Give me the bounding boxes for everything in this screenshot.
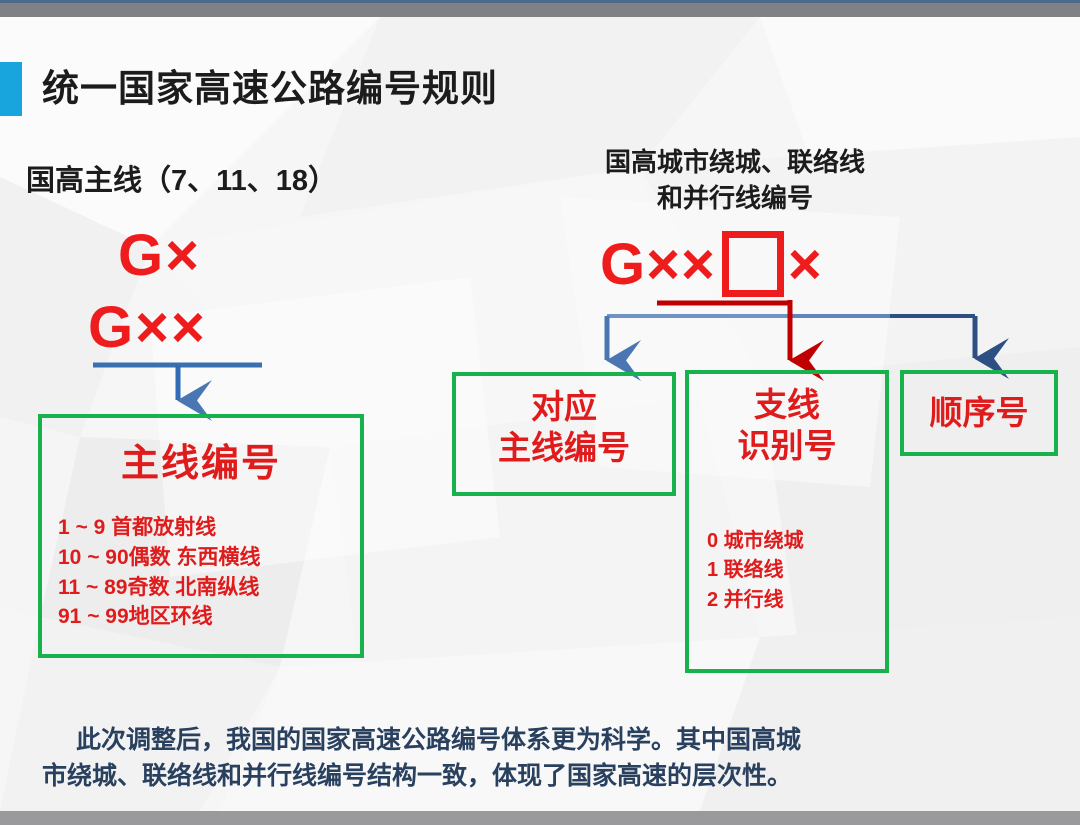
right-heading-line2: 和并行线编号 [500,181,970,217]
list-item: 91 ~ 99地区环线 [58,602,360,632]
box-corresponding-title-line1: 对应 [456,386,672,427]
caption-line-2: 市绕城、联络线和并行线编号结构一致，体现了国家高速的层次性。 [42,758,1042,794]
code-gxx: G×× [88,294,207,361]
code-suffix: × [788,231,823,298]
red-square-placeholder-icon [722,231,784,297]
page-title: 统一国家高速公路编号规则 [42,62,742,116]
title-accent-bar [0,62,22,116]
top-gray-band [0,3,1080,17]
list-item: 0 城市绕城 [707,527,885,557]
bottom-gray-band [0,811,1080,825]
slide-root: 统一国家高速公路编号规则 国高主线（7、11、18） G× G×× 国高城市绕城… [0,0,1080,825]
box-main-number: 主线编号 1 ~ 9 首都放射线 10 ~ 90偶数 东西横线 11 ~ 89奇… [38,414,364,658]
box-main-number-title: 主线编号 [42,432,360,487]
box-sequence-title: 顺序号 [904,386,1054,434]
code-gxx-box-x: G×× × [600,228,823,300]
box-branch-list: 0 城市绕城 1 联络线 2 并行线 [707,527,885,616]
box-corresponding-title-line2: 主线编号 [456,427,672,468]
left-section-heading: 国高主线（7、11、18） [26,157,456,199]
box-sequence-number: 顺序号 [900,370,1058,456]
code-prefix: G×× [600,231,716,298]
list-item: 10 ~ 90偶数 东西横线 [58,543,360,573]
list-item: 2 并行线 [707,586,885,616]
box-branch-title: 支线 识别号 [689,384,885,467]
right-section-heading: 国高城市绕城、联络线 和并行线编号 [500,145,970,217]
box-corresponding-main-number: 对应 主线编号 [452,372,676,496]
list-item: 11 ~ 89奇数 北南纵线 [58,573,360,603]
box-branch-title-line1: 支线 [689,384,885,425]
box-branch-identifier: 支线 识别号 0 城市绕城 1 联络线 2 并行线 [685,370,889,673]
box-main-number-list: 1 ~ 9 首都放射线 10 ~ 90偶数 东西横线 11 ~ 89奇数 北南纵… [58,513,360,632]
box-corresponding-title: 对应 主线编号 [456,386,672,469]
code-gx: G× [118,222,201,289]
bottom-caption: 此次调整后，我国的国家高速公路编号体系更为科学。其中国高城 市绕城、联络线和并行… [42,722,1042,795]
list-item: 1 联络线 [707,556,885,586]
list-item: 1 ~ 9 首都放射线 [58,513,360,543]
right-heading-line1: 国高城市绕城、联络线 [500,145,970,181]
box-branch-title-line2: 识别号 [689,425,885,466]
caption-line-1: 此次调整后，我国的国家高速公路编号体系更为科学。其中国高城 [42,722,1042,758]
